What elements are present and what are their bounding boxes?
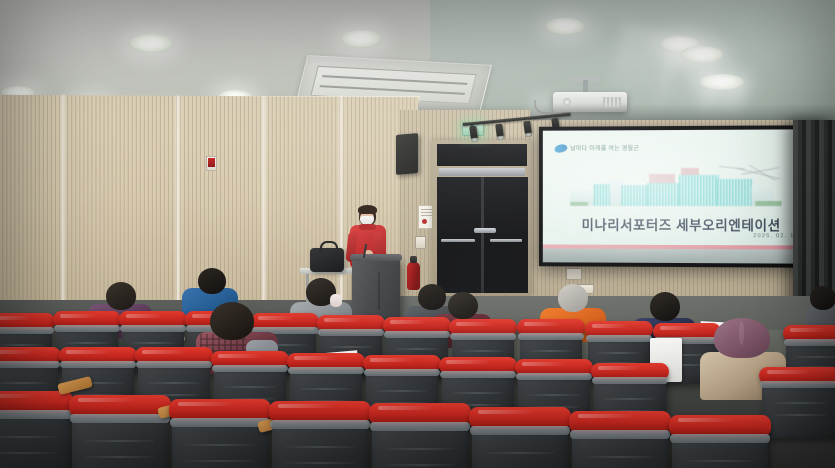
attendee-head — [558, 284, 588, 312]
ceiling-downlight — [545, 18, 585, 35]
auditorium-seat[interactable] — [572, 416, 668, 468]
auditorium-photo: 날마다 미래를 여는 영월군 미나리서포터즈 세부오리 — [0, 0, 835, 468]
auditorium-seat[interactable] — [672, 420, 768, 468]
projection-screen: 날마다 미래를 여는 영월군 미나리서포터즈 세부오리 — [539, 125, 825, 268]
ceiling-downlight — [680, 46, 724, 63]
wall-speaker-left — [396, 133, 418, 175]
ceiling-downlight — [128, 34, 174, 53]
door-right-leaf[interactable] — [484, 177, 528, 293]
ceiling-downlight — [340, 30, 382, 48]
attendee-head — [210, 302, 254, 340]
door-push-handle[interactable] — [474, 228, 496, 233]
auditorium-seat[interactable] — [372, 408, 468, 468]
door-transom-panel — [437, 144, 527, 166]
slide-glare — [543, 129, 821, 263]
attendee-head — [106, 282, 136, 310]
fire-alarm-lever — [208, 158, 215, 167]
extinguisher-handle — [410, 256, 417, 263]
auditorium-seat[interactable] — [472, 412, 568, 468]
auditorium-seat[interactable] — [172, 404, 268, 468]
auditorium-seat[interactable] — [762, 372, 835, 438]
attendee-face-mask — [330, 294, 342, 307]
bag-handle — [320, 241, 338, 252]
door-center-gap — [481, 177, 484, 293]
door-left-leaf[interactable] — [437, 177, 481, 293]
attendee-head — [448, 292, 478, 319]
attendee-head — [810, 286, 835, 310]
black-bag — [310, 248, 344, 272]
attendee-head — [198, 268, 226, 294]
lectern-edge — [378, 272, 380, 310]
door-closer-bar — [439, 168, 525, 176]
presenter-collar — [359, 224, 376, 230]
auditorium-seat[interactable] — [72, 400, 168, 468]
wall-switch-plate — [566, 268, 582, 280]
attendee-beret — [714, 318, 770, 358]
sign-red-dot-icon — [422, 219, 427, 224]
wall-outlet-plate — [415, 236, 426, 249]
fire-alarm-pull-station-icon — [206, 156, 217, 171]
attendee-head — [650, 292, 680, 321]
presenter-hair — [358, 205, 377, 214]
ceiling-downlight — [700, 74, 744, 90]
auditorium-seat[interactable] — [0, 396, 70, 468]
lectern-top — [350, 254, 402, 261]
slide-surface: 날마다 미래를 여는 영월군 미나리서포터즈 세부오리 — [543, 129, 821, 263]
auditorium-seat[interactable] — [272, 406, 368, 468]
